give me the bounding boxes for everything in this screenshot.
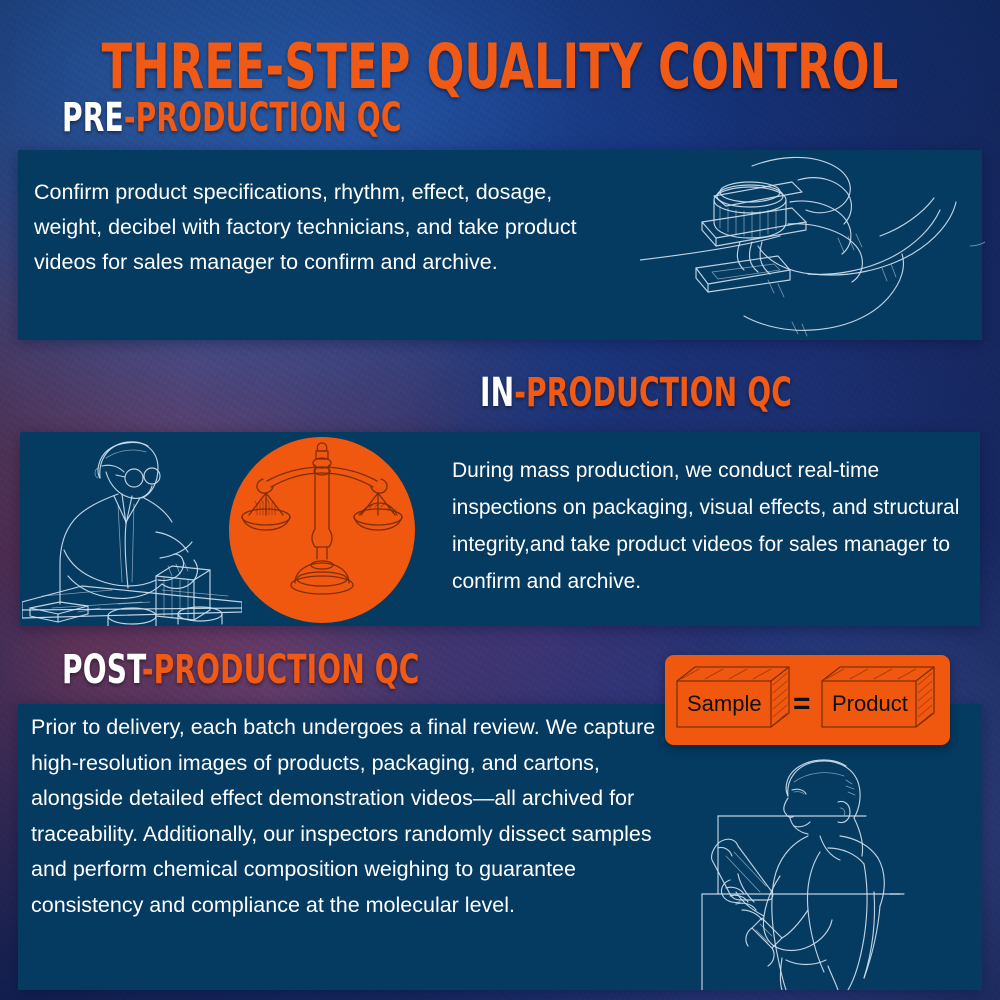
section-heading-post-white: POST bbox=[62, 647, 142, 693]
balance-scale-icon bbox=[229, 437, 415, 623]
section-heading-pre-orange: -PRODUCTION QC bbox=[124, 95, 402, 141]
section-heading-pre-white: PRE bbox=[62, 95, 124, 141]
infographic-root: THREE-STEP QUALITY CONTROL PRE-PRODUCTIO… bbox=[0, 0, 1000, 1000]
section-heading-in: IN-PRODUCTION QC bbox=[480, 373, 792, 413]
section-heading-post-orange: -PRODUCTION QC bbox=[142, 647, 420, 693]
equals-sign: = bbox=[793, 687, 811, 720]
page-title-text: THREE-STEP QUALITY CONTROL bbox=[102, 30, 899, 103]
section-heading-in-white: IN bbox=[480, 370, 514, 416]
sample-box-label: Sample bbox=[687, 691, 762, 716]
section-heading-pre: PRE-PRODUCTION QC bbox=[62, 98, 402, 138]
product-box-label: Product bbox=[832, 691, 908, 716]
body-text-post: Prior to delivery, each batch undergoes … bbox=[31, 710, 661, 923]
section-heading-in-orange: -PRODUCTION QC bbox=[514, 370, 792, 416]
section-heading-post: POST-PRODUCTION QC bbox=[62, 650, 420, 690]
body-text-in: During mass production, we conduct real-… bbox=[452, 452, 980, 600]
sample-equals-product-badge: Sample = Product bbox=[665, 655, 950, 745]
body-text-pre: Confirm product specifications, rhythm, … bbox=[34, 175, 594, 280]
page-title: THREE-STEP QUALITY CONTROL bbox=[0, 30, 1000, 103]
